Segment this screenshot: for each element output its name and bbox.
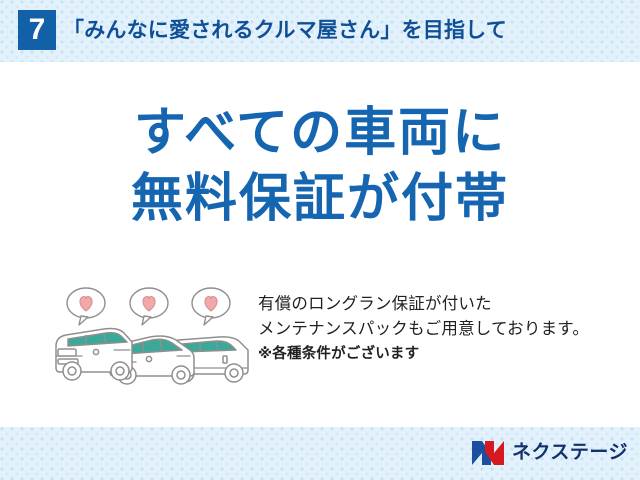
nexstage-n-mark-icon <box>471 440 505 466</box>
header-title: 「みんなに愛されるクルマ屋さん」を目指して <box>63 12 623 50</box>
cars-and-hearts-svg <box>48 284 253 396</box>
description-note: ※各種条件がございます <box>258 342 630 366</box>
header-band: 7 「みんなに愛されるクルマ屋さん」を目指して <box>0 0 640 62</box>
description-line-1: 有償のロングラン保証が付いた <box>258 292 630 317</box>
footer-band: ネクステージ <box>0 427 640 480</box>
promo-slide: 7 「みんなに愛されるクルマ屋さん」を目指して すべての車両に 無料保証が付帯 <box>0 0 640 480</box>
main-content-panel: すべての車両に 無料保証が付帯 <box>0 62 640 427</box>
brand-logo-text: ネクステージ <box>512 440 628 466</box>
description-block: 有償のロングラン保証が付いた メンテナンスパックもご用意しております。 ※各種条… <box>258 292 630 366</box>
headline-line-1: すべての車両に <box>0 100 640 166</box>
section-number-badge: 7 <box>18 10 56 50</box>
headline-line-2: 無料保証が付帯 <box>0 166 640 232</box>
info-row: 有償のロングラン保証が付いた メンテナンスパックもご用意しております。 ※各種条… <box>0 284 640 404</box>
brand-logo: ネクステージ <box>471 438 628 468</box>
headline: すべての車両に 無料保証が付帯 <box>0 100 640 232</box>
three-cars-illustration <box>48 284 253 396</box>
description-line-2: メンテナンスパックもご用意しております。 <box>258 317 630 342</box>
